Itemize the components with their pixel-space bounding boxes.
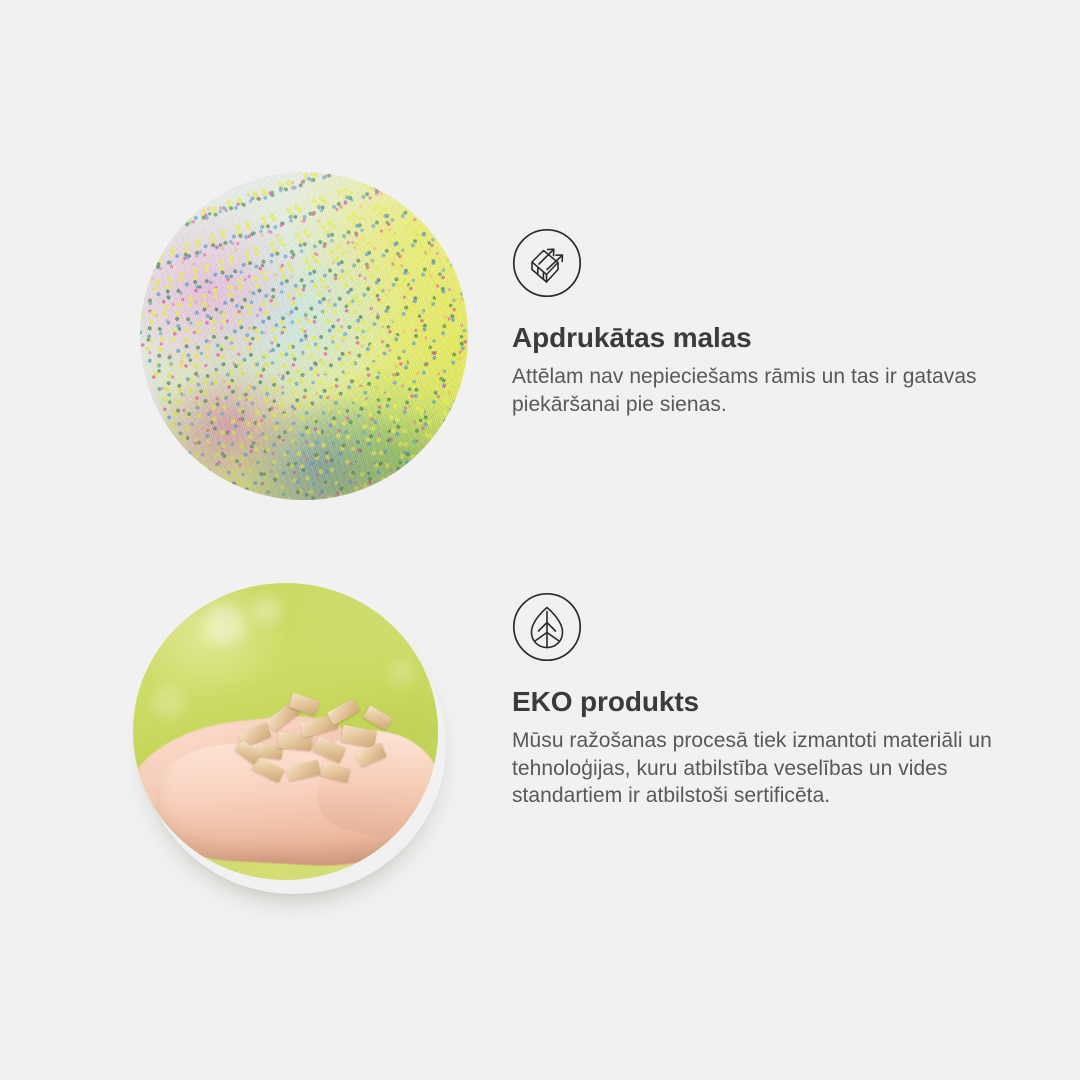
canvas-board xyxy=(140,172,468,500)
printed-edges-text: Apdrukātas malas Attēlam nav nepieciešam… xyxy=(512,228,1012,418)
feature-list-page: Apdrukātas malas Attēlam nav nepieciešam… xyxy=(0,0,1080,1080)
eco-edge-softening xyxy=(133,583,438,880)
canvas-light-sheen xyxy=(140,172,468,500)
leaf-icon xyxy=(512,592,582,662)
feature-description-printed-edges: Attēlam nav nepieciešams rāmis un tas ir… xyxy=(512,363,1012,418)
feature-title-printed-edges: Apdrukātas malas xyxy=(512,322,1012,354)
feature-description-eco: Mūsu ražošanas procesā tiek izmantoti ma… xyxy=(512,727,1022,810)
canvas-photo-scene xyxy=(140,172,468,500)
eco-image xyxy=(133,583,438,880)
printed-edges-image xyxy=(140,172,468,500)
feature-title-eco: EKO produkts xyxy=(512,686,1022,718)
printed-canvas-edge-icon xyxy=(512,228,582,298)
eco-text: EKO produkts Mūsu ražošanas procesā tiek… xyxy=(512,592,1022,810)
eco-photo-scene xyxy=(133,583,438,880)
